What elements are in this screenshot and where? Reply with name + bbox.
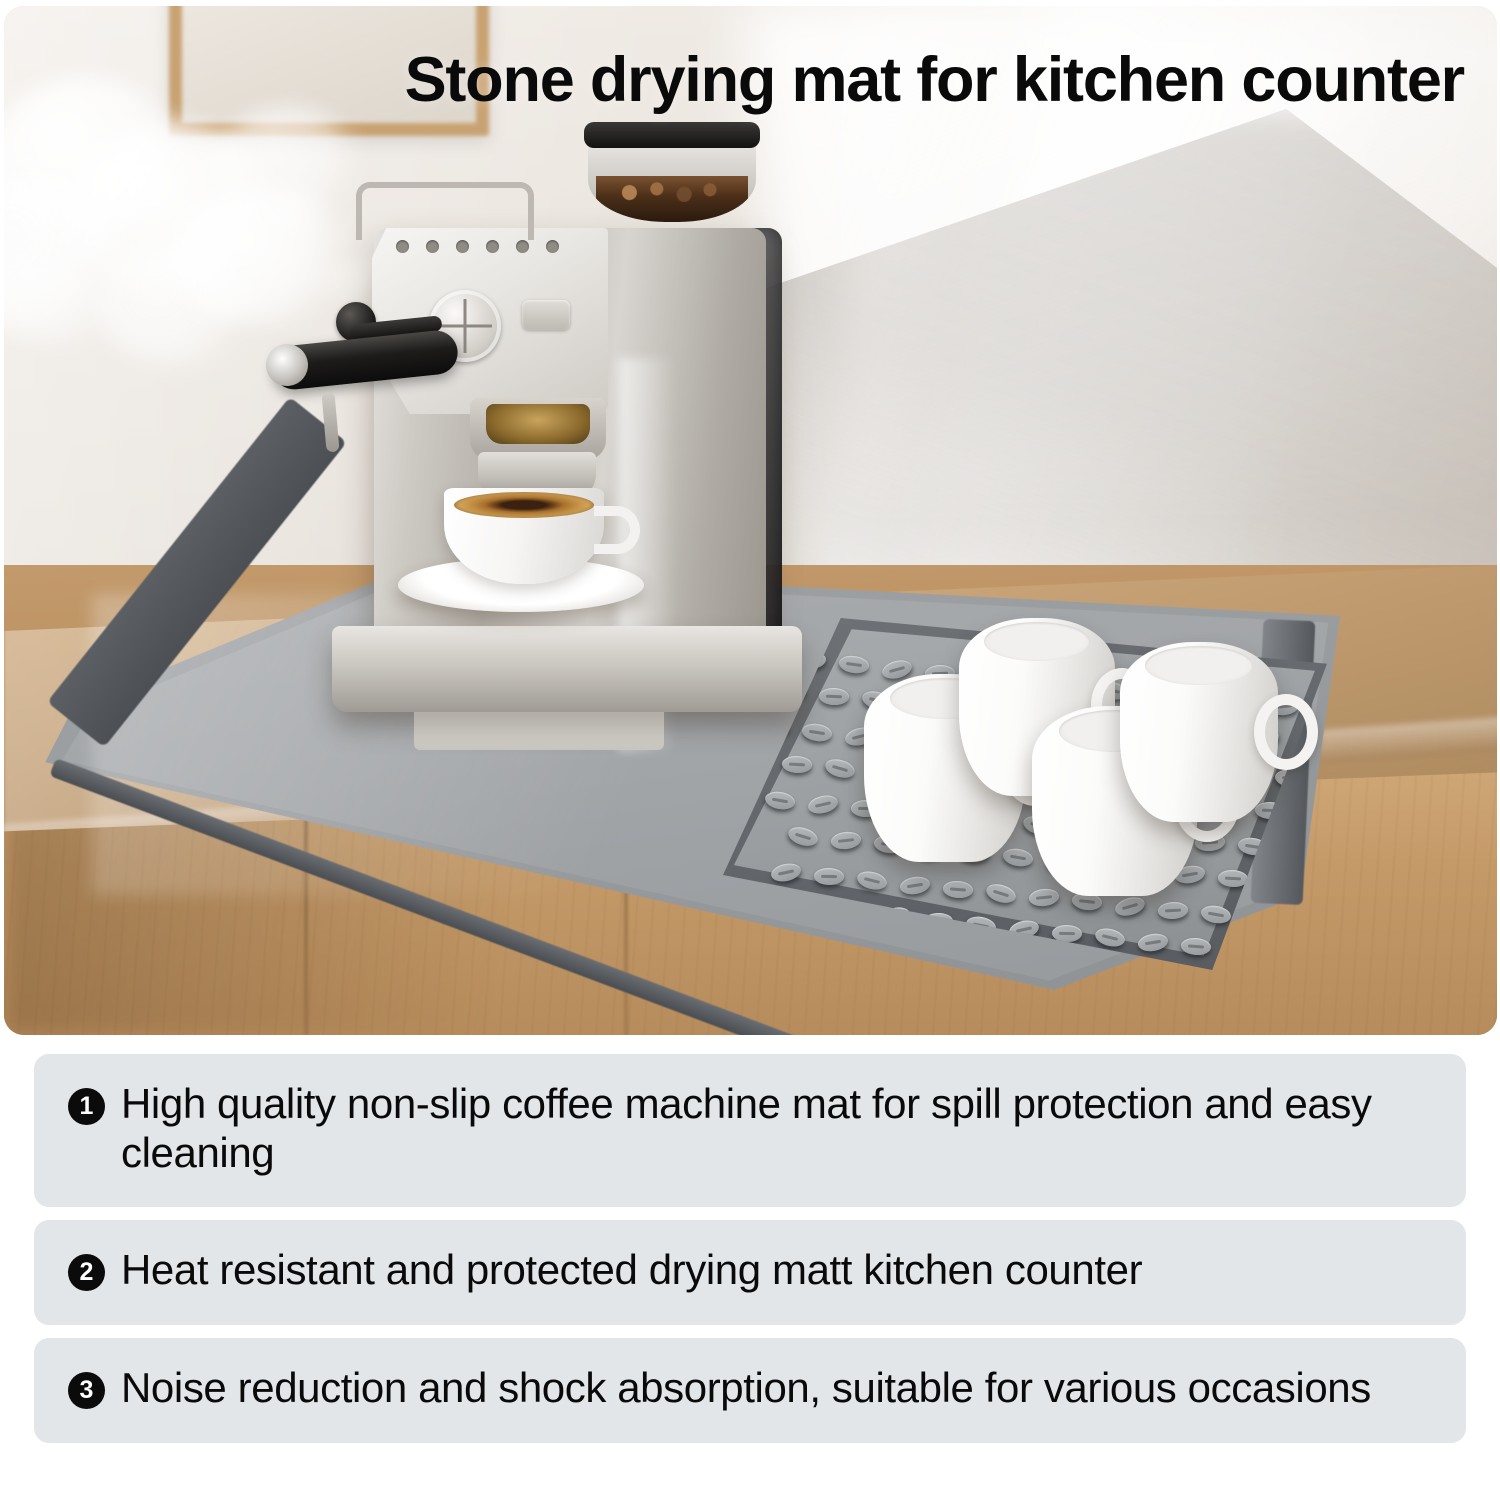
feature-badge-3: 3 [68, 1372, 105, 1409]
machine-vents [396, 240, 586, 254]
coffee-bean-bump [777, 935, 808, 953]
hero-product-photo: Stone drying mat for kitchen counter [4, 6, 1497, 1035]
feature-badge-2: 2 [68, 1254, 105, 1291]
cup-rim [1145, 646, 1252, 686]
control-button [522, 300, 570, 330]
group-head-brass-ring [486, 404, 590, 444]
feature-card-2: 2 Heat resistant and protected drying ma… [34, 1220, 1466, 1325]
coffee-bean-bump [1222, 938, 1256, 963]
drying-cup [1120, 642, 1278, 822]
bean-hopper-lid [584, 122, 760, 148]
page-title: Stone drying mat for kitchen counter [4, 44, 1464, 116]
feature-card-3: 3 Noise reduction and shock absorption, … [34, 1338, 1466, 1443]
steam-wand-drip-pipe [321, 392, 339, 453]
feature-text-3: Noise reduction and shock absorption, su… [121, 1364, 1371, 1413]
coffee-beans-in-hopper [596, 176, 748, 222]
feature-text-1: High quality non-slip coffee machine mat… [121, 1080, 1432, 1177]
cup-warmer-rail [356, 182, 534, 240]
espresso-cup-handle [594, 506, 640, 554]
feature-card-1: 1 High quality non-slip coffee machine m… [34, 1054, 1466, 1207]
group-head [470, 398, 606, 460]
cup-rim [984, 622, 1090, 661]
espresso-machine [314, 124, 874, 724]
coffee-bean-bump [1266, 945, 1298, 965]
feature-badge-1: 1 [68, 1088, 105, 1125]
espresso-crema [454, 492, 594, 518]
feature-list: 1 High quality non-slip coffee machine m… [34, 1054, 1466, 1456]
cup-handle [1254, 694, 1318, 770]
feature-text-2: Heat resistant and protected drying matt… [121, 1246, 1142, 1295]
machine-base [332, 626, 802, 712]
